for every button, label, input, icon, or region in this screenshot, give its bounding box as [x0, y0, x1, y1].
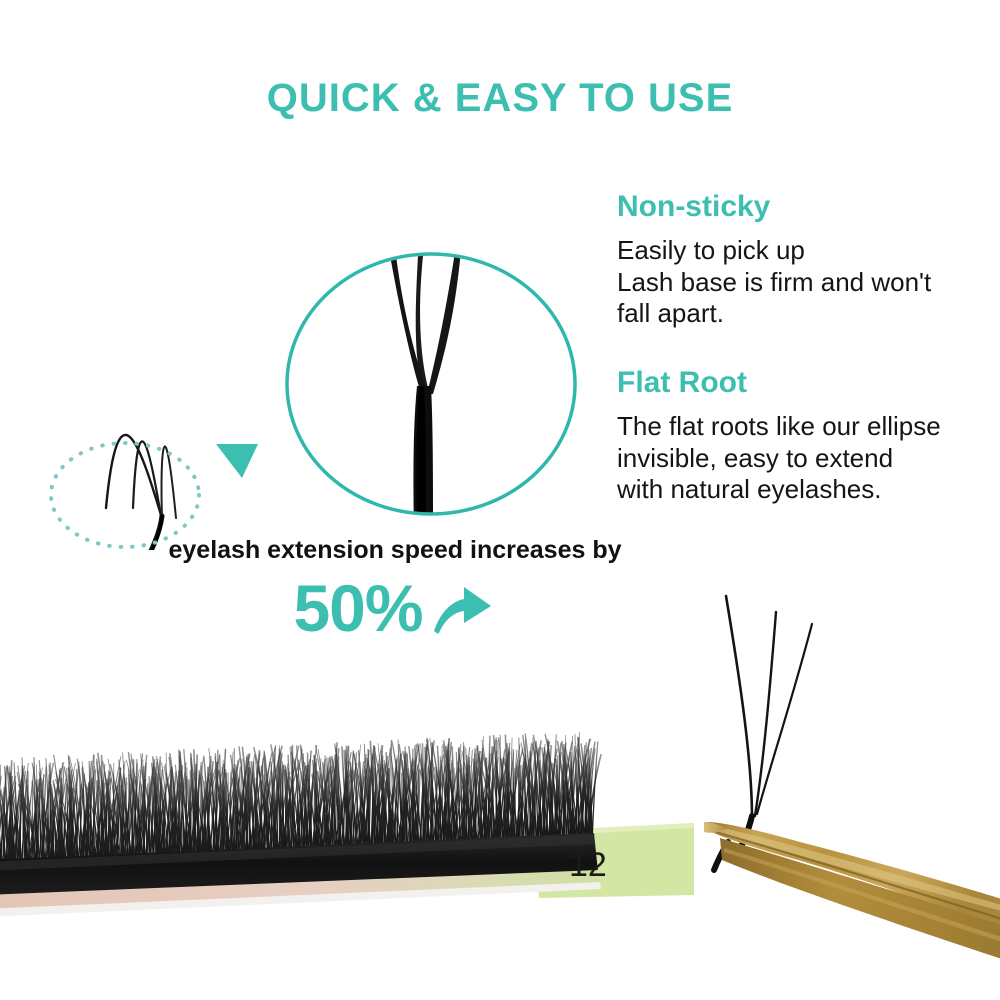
speed-stat: 50% [0, 575, 790, 641]
feature-body-non-sticky: Easily to pick up Lash base is firm and … [617, 235, 1000, 330]
page-title: QUICK & EASY TO USE [0, 76, 1000, 121]
feature-line: Easily to pick up [617, 235, 1000, 267]
feature-line: fall apart. [617, 298, 1000, 330]
lash-fan-small [40, 240, 300, 550]
product-infographic: QUICK & EASY TO USE [0, 0, 1000, 1000]
feature-line: Lash base is firm and won't [617, 267, 1000, 299]
feature-heading-flat-root: Flat Root [617, 366, 1000, 399]
flat-root-closeup [389, 238, 461, 532]
feature-heading-non-sticky: Non-sticky [617, 190, 1000, 223]
curved-up-arrow-icon [431, 577, 497, 639]
feature-line: The flat roots like our ellipse [617, 411, 1000, 443]
lash-strip-tray-photo: 12 [0, 690, 694, 940]
feature-line: with natural eyelashes. [617, 474, 1000, 506]
feature-flat-root: Flat Root The flat roots like our ellips… [617, 366, 1000, 506]
teal-ellipse-magnifier [283, 236, 579, 532]
teal-triangle-pointer [212, 440, 262, 482]
feature-body-flat-root: The flat roots like our ellipse invisibl… [617, 411, 1000, 506]
tray-label-value: 12 [569, 846, 607, 884]
speed-caption: eyelash extension speed increases by [0, 536, 790, 565]
feature-line: invisible, easy to extend [617, 443, 1000, 475]
speed-stat-value: 50% [293, 575, 422, 641]
feature-non-sticky: Non-sticky Easily to pick up Lash base i… [617, 190, 1000, 330]
